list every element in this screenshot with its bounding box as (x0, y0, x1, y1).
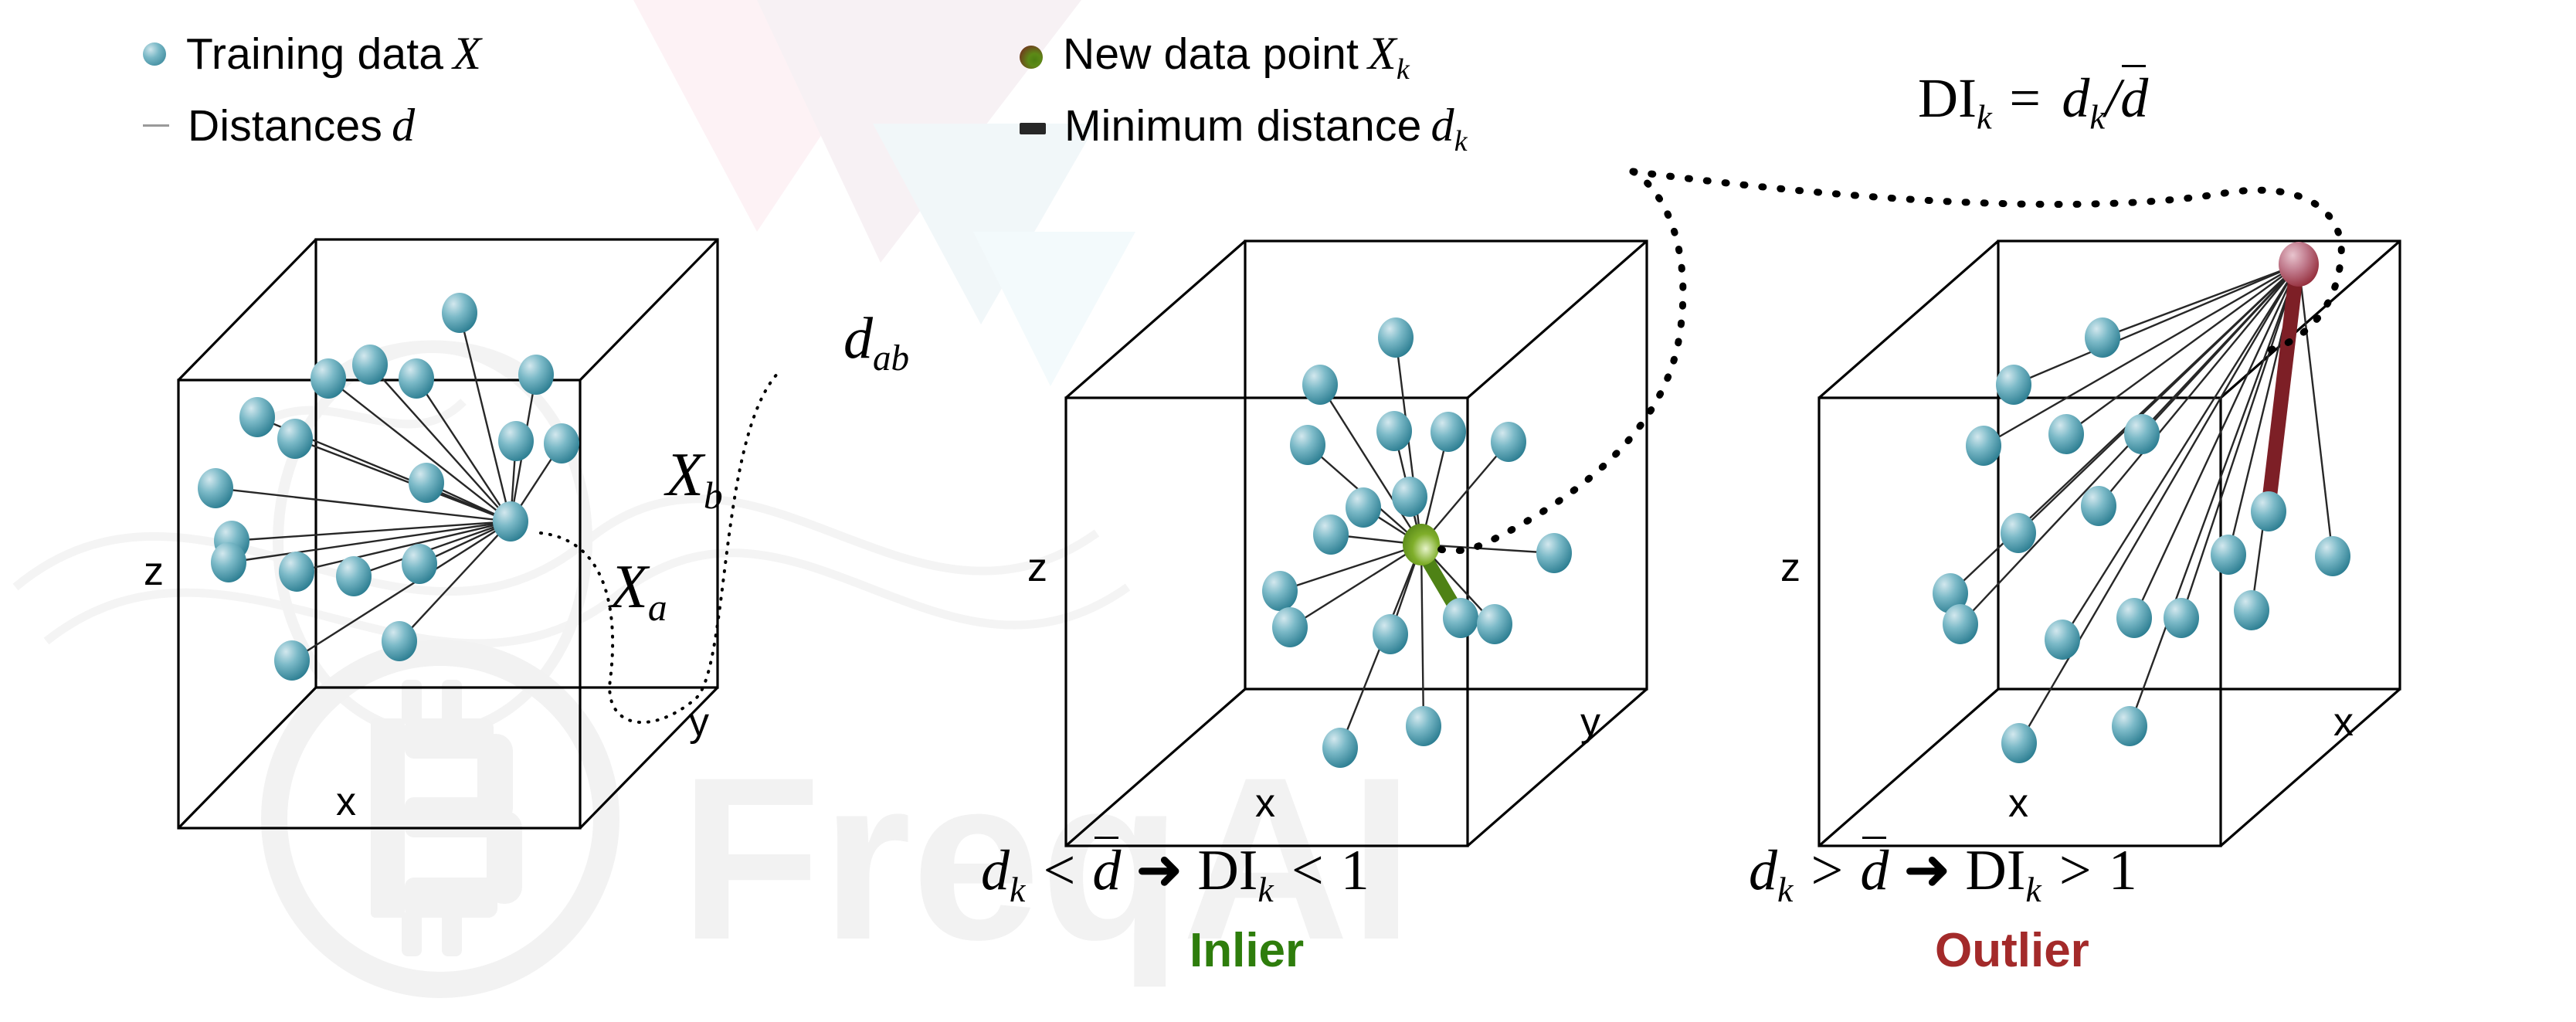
axis-label-x-2: x (1255, 780, 1275, 827)
formula-outlier-condition: dk > d ➜ DIk > 1 (1749, 837, 2137, 910)
legend-label-training-data: Training dataX (186, 27, 481, 80)
legend-label-distances: Distancesd (188, 99, 415, 152)
legend-item-distances: Distancesd (143, 99, 415, 152)
new-data-point-inlier (1403, 524, 1440, 565)
label-dab: dab (843, 305, 909, 379)
legend-label-new-data-point: New data pointXk (1063, 27, 1410, 87)
label-xb: Xb (666, 440, 723, 518)
leader-dab (541, 371, 780, 722)
diagram-canvas: FreqAI (0, 0, 2576, 1022)
thick-dash-icon (1020, 123, 1046, 134)
legend-label-minimum-distance: Minimum distancedk (1064, 99, 1468, 158)
axis-label-x-1: x (336, 779, 356, 825)
caption-outlier: Outlier (1935, 923, 2089, 978)
training-points-1 (198, 293, 579, 681)
legend-item-new-data-point: New data pointXk (1020, 27, 1410, 87)
caption-inlier: Inlier (1190, 923, 1304, 978)
axis-label-y-2: y (1580, 699, 1600, 745)
axis-label-y-3: x (2333, 699, 2354, 745)
formula-inlier-condition: dk < d ➜ DIk < 1 (981, 837, 1369, 910)
axis-label-z-1: z (144, 548, 164, 595)
axis-label-y-1: y (689, 699, 709, 745)
panel-inlier (1066, 241, 1647, 846)
axis-label-x-3: x (2008, 780, 2028, 827)
anchor-point-xa (493, 501, 528, 542)
new-data-point-outlier (2279, 242, 2319, 287)
new-point-sphere-icon (1020, 46, 1043, 69)
axis-label-z-2: z (1027, 545, 1047, 591)
axis-label-z-3: z (1780, 545, 1800, 591)
teal-sphere-icon (143, 42, 166, 66)
formula-di-definition: DIk = dk/d (1918, 66, 2148, 137)
legend-item-minimum-distance: Minimum distancedk (1020, 99, 1468, 158)
label-xa: Xa (610, 552, 667, 630)
panel-outlier (1819, 241, 2400, 846)
distance-lines-1 (216, 313, 562, 660)
leader-dk (1431, 171, 2341, 551)
legend-item-training-data: Training dataX (143, 27, 481, 80)
thin-dash-icon (143, 124, 169, 127)
